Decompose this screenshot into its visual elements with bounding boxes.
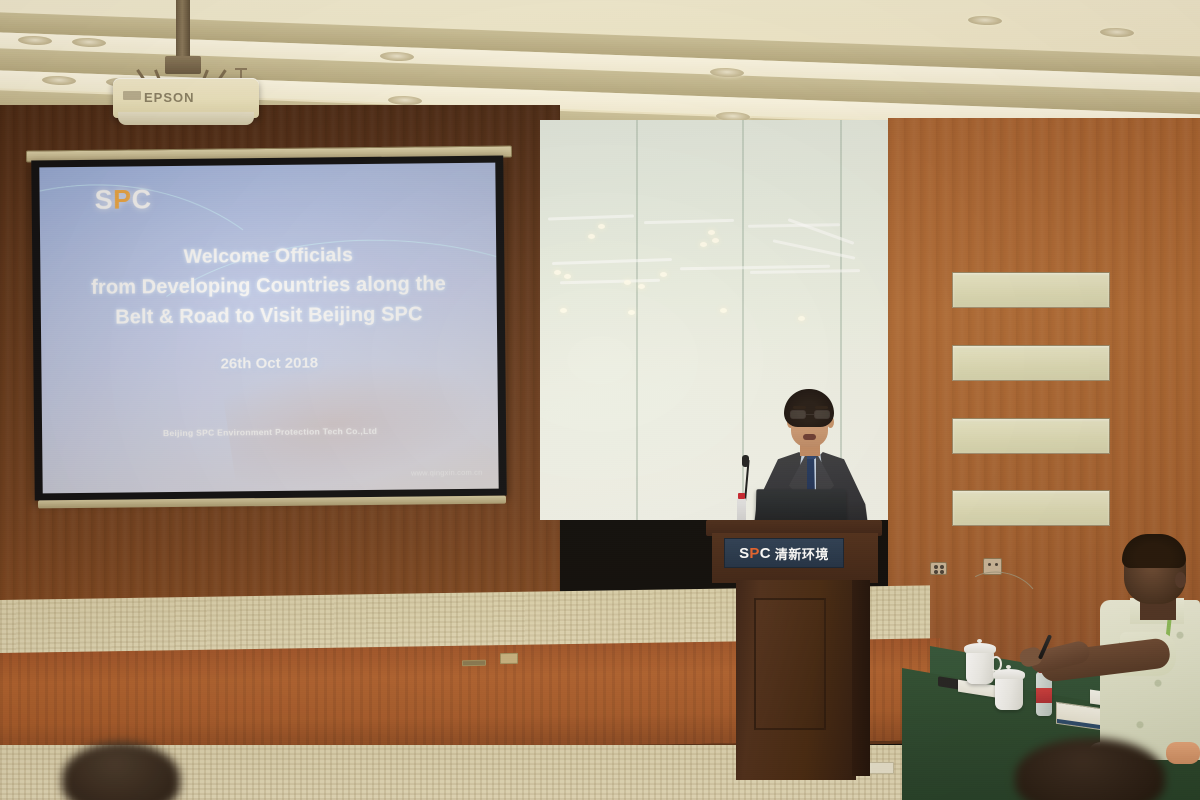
podium-brand-sign: SPC 清新环境 bbox=[724, 538, 844, 568]
podium-logo-s: S bbox=[739, 545, 749, 562]
reflected-light-icon bbox=[564, 274, 571, 279]
podium-side-panel bbox=[852, 580, 870, 776]
glasses-bridge bbox=[806, 414, 814, 415]
tea-cup-lid bbox=[993, 669, 1025, 679]
glass-reflection bbox=[748, 223, 840, 228]
delegate-hair bbox=[1122, 534, 1186, 568]
reflected-light-icon bbox=[624, 280, 631, 285]
stage-item-card bbox=[500, 653, 518, 664]
reflected-light-icon bbox=[700, 242, 707, 247]
speaker-eyebrow-right bbox=[815, 406, 828, 409]
logo-letter-p: P bbox=[113, 184, 132, 214]
reflected-light-icon bbox=[628, 310, 635, 315]
logo-letter-s: S bbox=[94, 185, 113, 215]
bottle-label bbox=[1036, 688, 1052, 703]
reflected-light-icon bbox=[798, 316, 805, 321]
glass-reflection bbox=[644, 219, 734, 224]
socket-hole bbox=[988, 563, 991, 566]
ceiling-downlight-icon bbox=[1100, 27, 1134, 37]
glass-reflection bbox=[773, 239, 856, 259]
slide-title: Welcome Officials from Developing Countr… bbox=[40, 239, 497, 334]
slide-title-line1: Welcome Officials bbox=[183, 244, 353, 268]
glass-reflection bbox=[750, 269, 860, 274]
reflected-light-icon bbox=[712, 238, 719, 243]
presenter-laptop[interactable] bbox=[756, 489, 847, 522]
podium-logo-p: P bbox=[749, 545, 759, 562]
tea-cup bbox=[995, 676, 1023, 710]
glass-reflection bbox=[560, 279, 660, 285]
reflected-light-icon bbox=[638, 284, 645, 289]
tea-cup-knob bbox=[977, 639, 982, 643]
wall-glass-panel bbox=[952, 272, 1110, 308]
outlet-hole bbox=[934, 565, 938, 569]
slide-website-url: www.qingxin.com.cn bbox=[411, 468, 483, 478]
reflected-light-icon bbox=[554, 270, 561, 275]
speaker-glasses-icon bbox=[789, 410, 831, 420]
speaker-eyebrow-left bbox=[793, 406, 806, 409]
glass-reflection bbox=[548, 215, 634, 221]
glasses-lens-right bbox=[814, 410, 830, 419]
projector-brand-label: EPSON bbox=[144, 90, 195, 105]
glasses-lens-left bbox=[790, 410, 806, 419]
podium-spc-logo: SPC bbox=[739, 545, 771, 562]
slide-title-line2: from Developing Countries along the bbox=[40, 269, 496, 304]
second-delegate-hand bbox=[1166, 742, 1200, 764]
reflected-light-icon bbox=[708, 230, 715, 235]
reflected-light-icon bbox=[598, 224, 605, 229]
projector-lens-housing bbox=[118, 112, 254, 125]
tea-cup-knob bbox=[1006, 665, 1011, 669]
reflected-light-icon bbox=[588, 234, 595, 239]
socket-hole bbox=[995, 563, 998, 566]
slide-title-line3: Belt & Road to Visit Beijing SPC bbox=[41, 299, 497, 334]
podium-logo-c: C bbox=[760, 545, 771, 562]
outlet-hole bbox=[934, 570, 938, 574]
outlet-hole bbox=[940, 570, 944, 574]
glass-reflection bbox=[788, 218, 855, 245]
stage-item-strip bbox=[462, 660, 486, 666]
wall-glass-panel bbox=[952, 418, 1110, 454]
ceiling-downlight-icon bbox=[968, 15, 1002, 25]
microphone-icon bbox=[742, 455, 749, 467]
podium-chinese-name: 清新环境 bbox=[775, 544, 829, 563]
wall-glass-panel bbox=[952, 345, 1110, 381]
tea-cup-lid bbox=[964, 643, 996, 653]
speaker-mouth bbox=[803, 434, 816, 440]
reflected-light-icon bbox=[560, 308, 567, 313]
outlet-hole bbox=[940, 565, 944, 569]
presentation-slide: SPC Welcome Officials from Developing Co… bbox=[39, 163, 498, 494]
reflected-light-icon bbox=[720, 308, 727, 313]
projector-vent bbox=[123, 91, 141, 100]
delegate-shirt bbox=[1100, 600, 1200, 760]
delegate-ear bbox=[1175, 572, 1186, 588]
wall-plate-left bbox=[930, 562, 947, 575]
projection-screen: SPC Welcome Officials from Developing Co… bbox=[31, 156, 507, 501]
podium-front-panel bbox=[754, 598, 826, 730]
wall-glass-panel bbox=[952, 490, 1110, 526]
logo-letter-c: C bbox=[132, 184, 152, 214]
projector-mount-pole bbox=[176, 0, 190, 62]
slide-spc-logo: SPC bbox=[94, 184, 151, 216]
glass-reflection bbox=[552, 258, 672, 265]
conference-room-scene: SPC Welcome Officials from Developing Co… bbox=[0, 0, 1200, 800]
reflected-light-icon bbox=[660, 272, 667, 277]
glass-mullion bbox=[636, 120, 638, 520]
